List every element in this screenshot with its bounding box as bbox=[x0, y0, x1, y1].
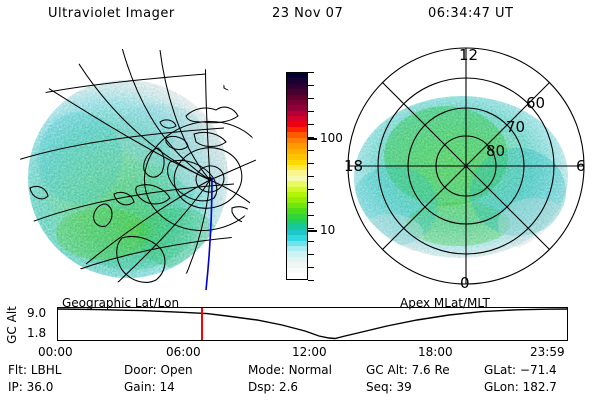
mlt-label-0: 0 bbox=[460, 274, 470, 292]
colorbar-minor-tick bbox=[308, 228, 314, 229]
status-field-value: −71.4 bbox=[520, 363, 557, 377]
status-field-label: Flt: bbox=[8, 363, 31, 377]
status-field: Door: Open bbox=[124, 363, 193, 377]
colorbar-minor-tick bbox=[308, 176, 314, 177]
status-field-label: GC Alt: bbox=[366, 363, 412, 377]
time-axis-ticks: 00:0006:0012:0018:0023:59 bbox=[0, 345, 600, 361]
apex-polar-panel[interactable]: 12 18 6 0 60 70 80 bbox=[338, 38, 594, 294]
altitude-tick-low: 1.8 bbox=[27, 326, 46, 340]
status-field-value: LBHL bbox=[31, 363, 62, 377]
colorbar-minor-tick bbox=[308, 267, 314, 268]
colorbar-minor-tick bbox=[308, 98, 314, 99]
geographic-image-panel[interactable] bbox=[10, 38, 266, 294]
colorbar-minor-tick bbox=[308, 72, 314, 73]
mlt-label-6: 6 bbox=[576, 157, 586, 175]
status-field: Dsp: 2.6 bbox=[248, 380, 298, 394]
status-field-value: 14 bbox=[159, 380, 174, 394]
time-tick-label: 00:00 bbox=[38, 345, 73, 359]
altitude-tick-high: 9.0 bbox=[27, 306, 46, 320]
current-time-marker bbox=[201, 308, 203, 340]
status-field: GLon: 182.7 bbox=[484, 380, 557, 394]
apex-polar-svg: 12 18 6 0 60 70 80 bbox=[338, 38, 594, 294]
status-field-value: Normal bbox=[289, 363, 332, 377]
status-field-value: 2.6 bbox=[279, 380, 298, 394]
status-field-label: GLon: bbox=[484, 380, 523, 394]
colorbar-minor-tick bbox=[308, 215, 314, 216]
altitude-curve bbox=[57, 307, 568, 341]
colorbar-minor-tick bbox=[308, 124, 314, 125]
mlat-label-70: 70 bbox=[506, 118, 525, 136]
status-field-label: Dsp: bbox=[248, 380, 279, 394]
status-field: Seq: 39 bbox=[366, 380, 412, 394]
aurora-emission-apex bbox=[350, 94, 570, 258]
mlt-label-12: 12 bbox=[459, 46, 478, 64]
status-block: Flt: LBHLDoor: OpenMode: NormalGC Alt: 7… bbox=[0, 363, 600, 399]
status-field: Mode: Normal bbox=[248, 363, 332, 377]
colorbar-minor-tick bbox=[308, 85, 314, 86]
status-field-label: GLat: bbox=[484, 363, 520, 377]
status-field: IP: 36.0 bbox=[8, 380, 53, 394]
colorbar-minor-tick bbox=[308, 241, 314, 242]
header-bar: Ultraviolet Imager 23 Nov 07 06:34:47 UT bbox=[0, 6, 600, 28]
status-row-2: IP: 36.0Gain: 14Dsp: 2.6Seq: 39GLon: 182… bbox=[0, 380, 600, 397]
colorbar-minor-tick bbox=[308, 111, 314, 112]
colorbar-minor-tick bbox=[308, 163, 314, 164]
colorbar-minor-tick bbox=[308, 280, 314, 281]
colorbar-minor-tick bbox=[308, 189, 314, 190]
time-tick-label: 06:00 bbox=[166, 345, 201, 359]
polar-grid bbox=[348, 48, 584, 284]
status-field-label: Seq: bbox=[366, 380, 396, 394]
time-tick-label: 23:59 bbox=[530, 345, 565, 359]
status-field-label: Mode: bbox=[248, 363, 289, 377]
altitude-time-strip[interactable]: GC Alt 9.0 1.8 bbox=[0, 306, 600, 346]
status-field-value: 182.7 bbox=[523, 380, 557, 394]
observation-date: 23 Nov 07 bbox=[272, 6, 343, 21]
colorbar-gradient[interactable] bbox=[286, 72, 308, 280]
time-tick-label: 12:00 bbox=[292, 345, 327, 359]
aurora-emission-geographic bbox=[22, 80, 230, 280]
status-field: GLat: −71.4 bbox=[484, 363, 557, 377]
altitude-axis-label: GC Alt bbox=[5, 302, 19, 348]
geographic-globe-svg bbox=[10, 38, 266, 294]
colorbar-group: photon cm-2s-1 10010 bbox=[266, 40, 338, 296]
status-field: GC Alt: 7.6 Re bbox=[366, 363, 450, 377]
colorbar-minor-tick bbox=[308, 150, 314, 151]
status-field-value: 36.0 bbox=[27, 380, 54, 394]
mlt-label-18: 18 bbox=[344, 157, 363, 175]
status-field-label: Door: bbox=[124, 363, 161, 377]
status-field: Flt: LBHL bbox=[8, 363, 61, 377]
observation-time: 06:34:47 UT bbox=[428, 6, 513, 21]
status-field-label: Gain: bbox=[124, 380, 159, 394]
colorbar-major-tick bbox=[308, 138, 317, 140]
colorbar-minor-tick bbox=[308, 254, 314, 255]
time-tick-label: 18:00 bbox=[418, 345, 453, 359]
status-field-label: IP: bbox=[8, 380, 27, 394]
status-row-1: Flt: LBHLDoor: OpenMode: NormalGC Alt: 7… bbox=[0, 363, 600, 380]
colorbar-tick-label: 10 bbox=[320, 224, 335, 236]
pole-marker bbox=[208, 177, 212, 181]
mlat-label-80: 80 bbox=[486, 142, 505, 160]
status-field: Gain: 14 bbox=[124, 380, 175, 394]
instrument-title: Ultraviolet Imager bbox=[48, 6, 175, 21]
colorbar-swatch bbox=[287, 273, 307, 278]
colorbar-minor-tick bbox=[308, 202, 314, 203]
status-field-value: Open bbox=[161, 363, 193, 377]
mlat-label-60: 60 bbox=[526, 94, 545, 112]
colorbar-major-tick bbox=[308, 230, 317, 232]
status-field-value: 39 bbox=[396, 380, 411, 394]
status-field-value: 7.6 Re bbox=[412, 363, 450, 377]
